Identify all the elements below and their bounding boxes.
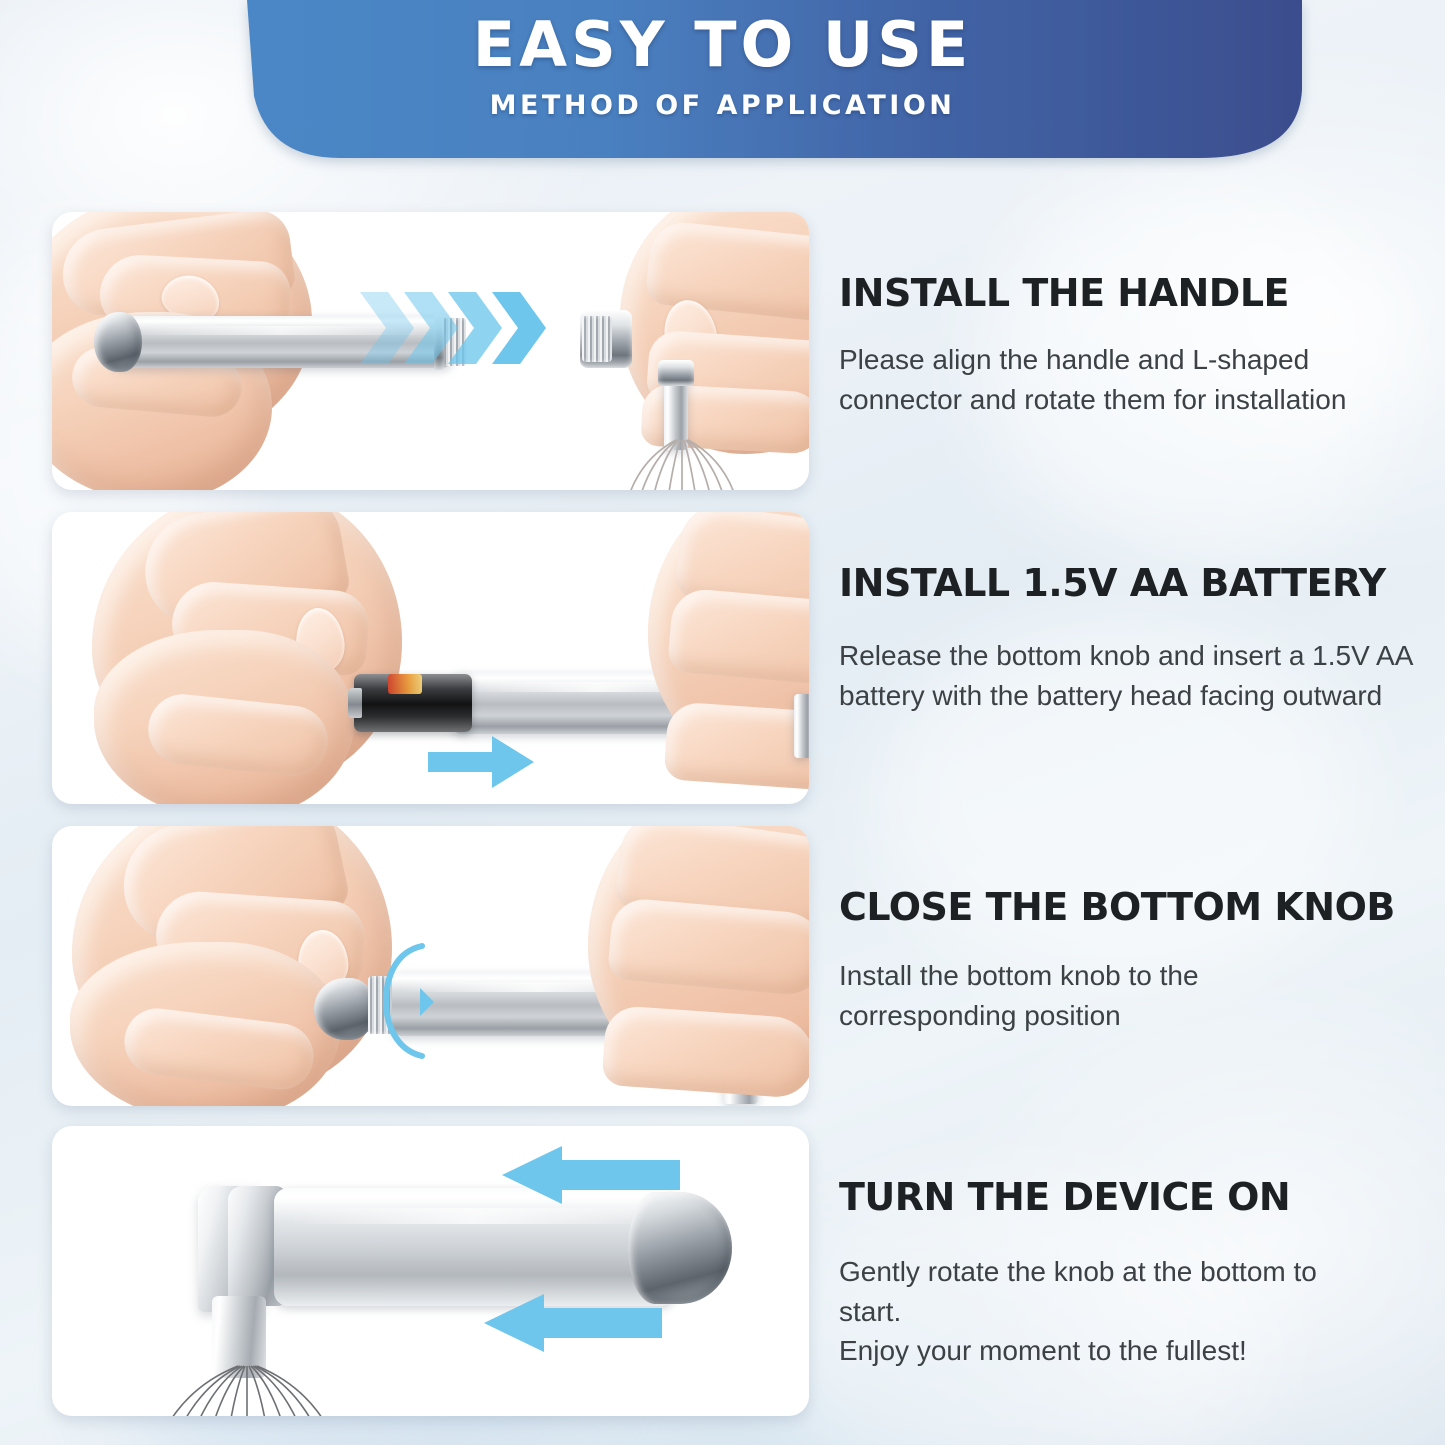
step-body: Install the bottom knob to the correspon… [839, 956, 1309, 1036]
step-photo-card [52, 1126, 809, 1416]
barrel-end-knob [94, 312, 142, 372]
step-body: Please align the handle and L-shaped con… [839, 340, 1427, 420]
l-connector-thread [582, 316, 612, 362]
header-banner: EASY TO USE METHOD OF APPLICATION [0, 0, 1445, 176]
step-text-column: INSTALL 1.5V AA BATTERY Release the bott… [809, 512, 1445, 715]
banner-text-group: EASY TO USE METHOD OF APPLICATION [0, 0, 1445, 160]
step-text-column: CLOSE THE BOTTOM KNOB Install the bottom… [809, 826, 1445, 1035]
step-photo-card [52, 212, 809, 490]
banner-subtitle: METHOD OF APPLICATION [490, 90, 956, 121]
battery-label-stripe [388, 674, 422, 694]
infographic-page: EASY TO USE METHOD OF APPLICATION [0, 0, 1445, 1445]
chevrons-right-icon [358, 286, 558, 370]
step-body: Release the bottom knob and insert a 1.5… [839, 636, 1419, 716]
whisk-stem [794, 694, 809, 758]
step-text-column: INSTALL THE HANDLE Please align the hand… [809, 212, 1445, 419]
rotate-icon [382, 936, 452, 1066]
step-row-turn-device-on: TURN THE DEVICE ON Gently rotate the kno… [0, 1126, 1445, 1416]
step-row-close-bottom-knob: CLOSE THE BOTTOM KNOB Install the bottom… [0, 826, 1445, 1106]
step-heading: CLOSE THE BOTTOM KNOB [839, 888, 1427, 928]
step-row-install-battery: INSTALL 1.5V AA BATTERY Release the bott… [0, 512, 1445, 804]
whisk-wires-icon [612, 438, 752, 490]
right-thumb [664, 701, 809, 793]
step-heading: INSTALL THE HANDLE [839, 274, 1427, 314]
arrow-right-icon [428, 734, 538, 790]
step-heading: TURN THE DEVICE ON [839, 1178, 1427, 1218]
step-text-column: TURN THE DEVICE ON Gently rotate the kno… [809, 1126, 1445, 1371]
right-thumb [601, 1005, 809, 1099]
step-photo-card [52, 826, 809, 1106]
arrow-left-icon [500, 1144, 680, 1206]
whisk-ferrule [658, 360, 694, 386]
step-body-line: Enjoy your moment to the fullest! [839, 1331, 1427, 1371]
battery-positive-terminal [348, 688, 362, 718]
step-body-line: start. [839, 1292, 1427, 1332]
photo-stage-install-the-handle [52, 212, 809, 490]
photo-stage-close-bottom-knob [52, 826, 809, 1106]
photo-stage-turn-device-on [52, 1126, 809, 1416]
step-heading: INSTALL 1.5V AA BATTERY [839, 564, 1427, 604]
step-body-line: Gently rotate the knob at the bottom to [839, 1252, 1427, 1292]
step-row-install-the-handle: INSTALL THE HANDLE Please align the hand… [0, 212, 1445, 490]
step-body-lines: Gently rotate the knob at the bottom to … [839, 1252, 1427, 1371]
banner-title: EASY TO USE [473, 14, 972, 76]
step-photo-card [52, 512, 809, 804]
device-end-knob [628, 1192, 732, 1304]
arrow-left-icon [482, 1292, 662, 1354]
photo-stage-install-battery [52, 512, 809, 804]
bottom-knob [314, 978, 376, 1040]
whisk-wires-icon [134, 1364, 354, 1416]
